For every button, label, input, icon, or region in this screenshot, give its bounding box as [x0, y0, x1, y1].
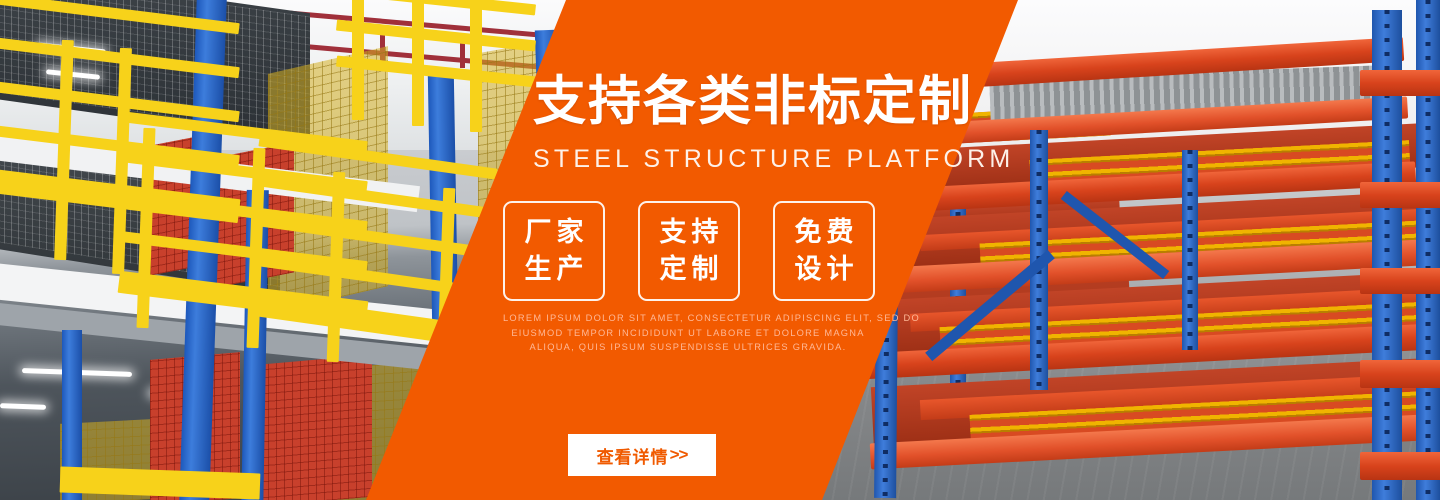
cta-label: 查看详情 [597, 443, 669, 468]
chevron-right-icon: >> [670, 445, 688, 465]
description-line-3: ALIQUA, QUIS IPSUM SUSPENDISSE ULTRICES … [503, 340, 873, 355]
feature-badge-customization[interactable]: 支持 定制 [638, 201, 740, 301]
banner-content: 支持各类非标定制 STEEL STRUCTURE PLATFORM 厂家 生产 … [0, 0, 1440, 500]
feature-badge-group: 厂家 生产 支持 定制 免费 设计 [503, 201, 875, 301]
subtitle: STEEL STRUCTURE PLATFORM [533, 145, 1014, 174]
badge-line-1: 厂家 [520, 215, 589, 250]
description-line-1: LOREM IPSUM DOLOR SIT AMET, CONSECTETUR … [503, 311, 873, 326]
page-title: 支持各类非标定制 [533, 72, 973, 131]
badge-line-1: 支持 [655, 215, 724, 250]
badge-line-1: 免费 [790, 215, 859, 250]
badge-line-2: 设计 [790, 252, 859, 287]
feature-badge-free-design[interactable]: 免费 设计 [773, 201, 875, 301]
description-text: LOREM IPSUM DOLOR SIT AMET, CONSECTETUR … [503, 311, 873, 355]
description-line-2: EIUSMOD TEMPOR INCIDIDUNT UT LABORE ET D… [503, 326, 873, 341]
view-details-button[interactable]: 查看详情>> [568, 434, 716, 476]
badge-line-2: 生产 [520, 252, 589, 287]
badge-line-2: 定制 [655, 252, 724, 287]
feature-badge-manufacturer[interactable]: 厂家 生产 [503, 201, 605, 301]
promo-banner: 支持各类非标定制 STEEL STRUCTURE PLATFORM 厂家 生产 … [0, 0, 1440, 500]
